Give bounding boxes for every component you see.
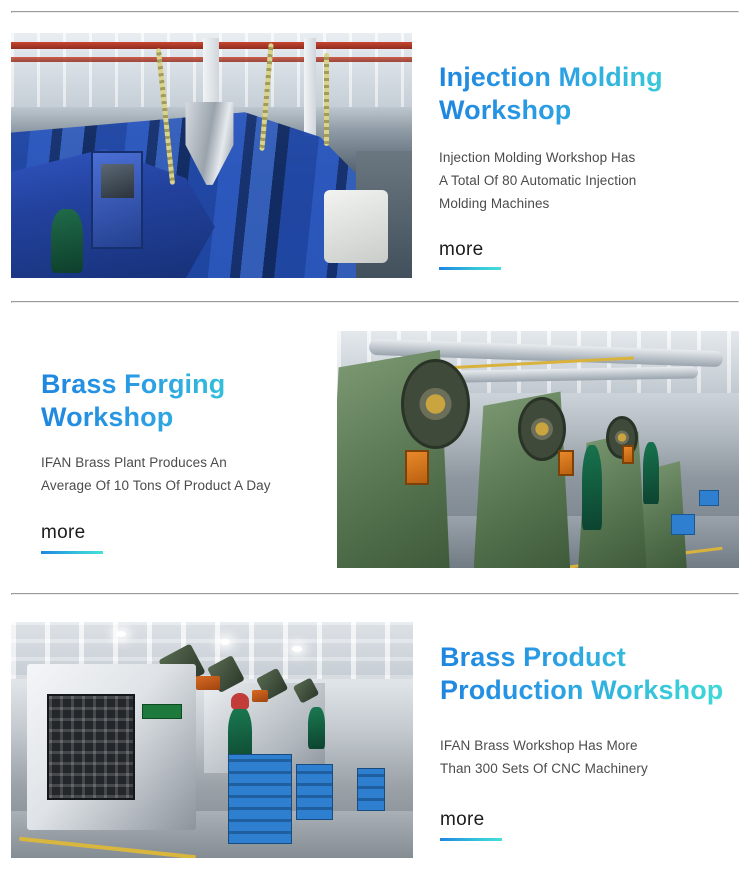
- section-brass-forging: Brass Forging Workshop IFAN Brass Plant …: [0, 331, 750, 568]
- more-link-brass-forging[interactable]: more: [41, 523, 86, 551]
- photo-feed-hose: [324, 53, 329, 146]
- photo-control-box: [622, 445, 634, 464]
- more-link-wrapper: more: [440, 810, 502, 841]
- photo-material-sacks: [324, 190, 388, 264]
- section-description: Injection Molding Workshop Has A Total O…: [439, 146, 736, 216]
- more-link-brass-product-production[interactable]: more: [440, 810, 485, 838]
- more-link-injection-molding[interactable]: more: [439, 240, 484, 268]
- section-heading: Injection Molding Workshop: [439, 61, 736, 128]
- photo-blue-crate: [671, 514, 695, 535]
- injection-molding-copy: Injection Molding Workshop Injection Mol…: [412, 33, 750, 270]
- photo-control-box: [558, 450, 574, 476]
- injection-molding-workshop-photo: [11, 33, 412, 278]
- brass-product-production-workshop-photo: [11, 622, 413, 858]
- more-underline: [440, 838, 502, 841]
- brass-forging-copy: Brass Forging Workshop IFAN Brass Plant …: [0, 331, 337, 554]
- section-brass-product-production: Brass Product Production Workshop IFAN B…: [0, 622, 750, 858]
- section-injection-molding: Injection Molding Workshop Injection Mol…: [0, 33, 750, 278]
- photo-cnc-machine: [27, 664, 196, 829]
- workshop-showcase-page: Injection Molding Workshop Injection Mol…: [0, 0, 750, 870]
- photo-ceiling-lamp: [292, 646, 302, 652]
- divider-section-1-2: [11, 301, 739, 303]
- more-link-wrapper: more: [439, 240, 501, 271]
- brass-product-production-copy: Brass Product Production Workshop IFAN B…: [413, 622, 750, 841]
- more-link-wrapper: more: [41, 523, 103, 554]
- section-heading: Brass Forging Workshop: [41, 368, 317, 435]
- photo-blue-crate-stack: [296, 764, 332, 821]
- brass-forging-workshop-photo: [337, 331, 739, 568]
- photo-blue-crate-stack: [228, 754, 292, 844]
- photo-worker: [51, 209, 83, 273]
- section-description: IFAN Brass Plant Produces An Average Of …: [41, 451, 317, 497]
- photo-blue-crate-stack: [357, 768, 385, 810]
- more-underline: [439, 267, 501, 270]
- photo-orange-fixture: [252, 690, 268, 702]
- photo-pillar: [304, 38, 316, 136]
- photo-worker: [643, 442, 659, 504]
- section-heading: Brass Product Production Workshop: [440, 641, 736, 708]
- more-underline: [41, 551, 103, 554]
- photo-blue-crate: [699, 490, 719, 507]
- photo-worker: [582, 445, 602, 530]
- photo-control-panel: [91, 151, 143, 249]
- photo-control-box: [405, 450, 429, 486]
- photo-ceiling-lamp: [220, 639, 230, 645]
- photo-flywheel: [401, 359, 469, 449]
- section-description: IFAN Brass Workshop Has More Than 300 Se…: [440, 734, 736, 780]
- photo-worker: [308, 707, 324, 749]
- divider-section-2-3: [11, 593, 739, 595]
- photo-machine-door: [47, 694, 135, 800]
- photo-orange-fixture: [196, 676, 220, 690]
- divider-top: [11, 11, 739, 13]
- photo-brand-badge: [142, 704, 183, 719]
